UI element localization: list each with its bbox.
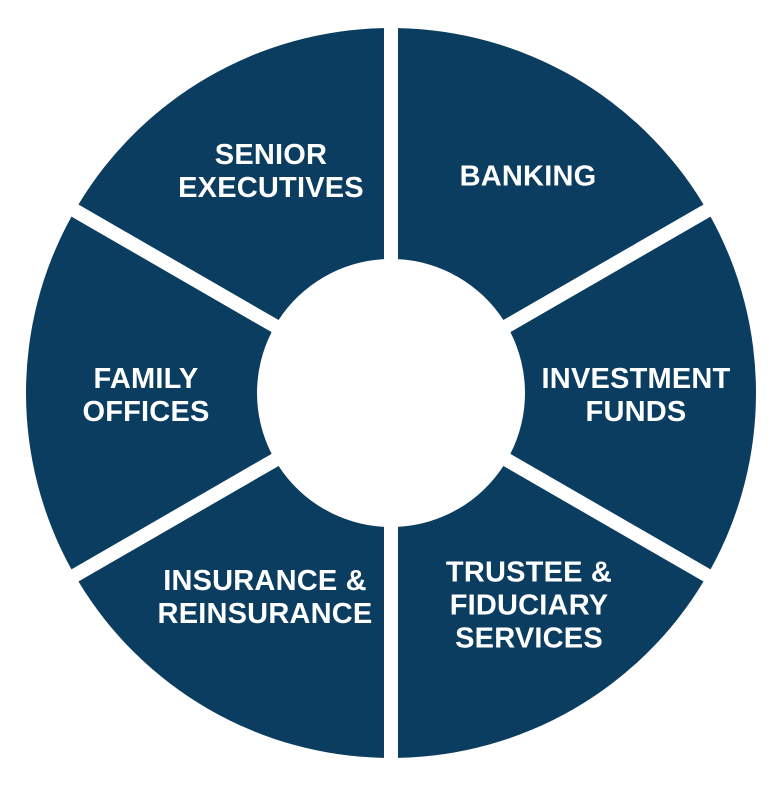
wheel-segments-group: [26, 28, 756, 758]
wheel-svg-canvas: [0, 0, 784, 788]
sector-wheel-diagram: BANKING INVESTMENT FUNDS TRUSTEE & FIDUC…: [0, 0, 784, 788]
